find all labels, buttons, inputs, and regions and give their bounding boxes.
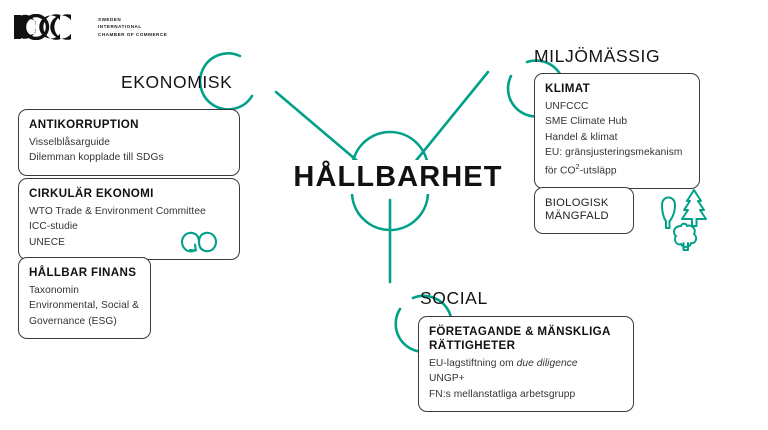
broadleaf-tree-icon bbox=[674, 224, 696, 250]
card-antikorruption: ANTIKORRUPTION Visselblåsarguide Dilemma… bbox=[18, 109, 240, 176]
card-item-list: UNFCCC SME Climate Hub Handel & klimat E… bbox=[545, 99, 689, 179]
due-diligence-italic: due diligence bbox=[517, 358, 578, 369]
list-item: Environmental, Social & Governance (ESG) bbox=[29, 298, 140, 329]
list-item: SME Climate Hub bbox=[545, 114, 689, 130]
list-item: Dilemman kopplade till SDGs bbox=[29, 150, 229, 166]
logo-line-chamber: Chamber of Commerce bbox=[98, 31, 167, 38]
list-item: Visselblåsarguide bbox=[29, 135, 229, 151]
card-title: HÅLLBAR FINANS bbox=[29, 266, 140, 280]
spoke-miljomassig bbox=[410, 72, 488, 168]
list-item-co2: EU: gränsjusteringsmekanism för CO2-utsl… bbox=[545, 145, 689, 178]
icc-logo-mark bbox=[14, 14, 92, 40]
logo-line-international: International bbox=[98, 23, 167, 30]
list-item: UNGP+ bbox=[429, 371, 623, 387]
fir-tree-icon bbox=[682, 190, 706, 226]
node-label-ekonomisk: EKONOMISK bbox=[121, 72, 232, 93]
card-hallbar-finans: HÅLLBAR FINANS Taxonomin Environmental, … bbox=[18, 257, 151, 339]
list-item: UNFCCC bbox=[545, 99, 689, 115]
list-item: WTO Trade & Environment Committee bbox=[29, 204, 229, 220]
infinity-loop-icon bbox=[176, 226, 222, 258]
card-item-list: EU-lagstiftning om due diligence UNGP+ F… bbox=[429, 356, 623, 403]
center-title-hallbarhet: HÅLLBARHET bbox=[288, 160, 508, 194]
poplar-tree-icon bbox=[662, 198, 675, 229]
due-diligence-prefix: EU-lagstiftning om bbox=[429, 358, 517, 369]
card-klimat: KLIMAT UNFCCC SME Climate Hub Handel & k… bbox=[534, 73, 700, 189]
trees-icon bbox=[652, 188, 714, 252]
list-item: Handel & klimat bbox=[545, 130, 689, 146]
list-item: Taxonomin bbox=[29, 283, 140, 299]
list-item-due-diligence: EU-lagstiftning om due diligence bbox=[429, 356, 623, 372]
node-label-social: SOCIAL bbox=[420, 288, 488, 309]
card-item-list: Visselblåsarguide Dilemman kopplade till… bbox=[29, 135, 229, 166]
card-title: CIRKULÄR EKONOMI bbox=[29, 187, 229, 201]
card-item-list: Taxonomin Environmental, Social & Govern… bbox=[29, 283, 140, 330]
logo-line-sweden: Sweden bbox=[98, 16, 167, 23]
card-title: FÖRETAGANDE & MÄNSKLIGA RÄTTIGHETER bbox=[429, 325, 623, 353]
card-title: BIOLOGISK MÄNGFALD bbox=[545, 197, 623, 224]
card-foretagande-manskliga-rattigheter: FÖRETAGANDE & MÄNSKLIGA RÄTTIGHETER EU-l… bbox=[418, 316, 634, 412]
node-label-miljomassig: MILJÖMÄSSIG bbox=[534, 46, 660, 67]
co2-text-suffix: -utsläpp bbox=[580, 165, 617, 176]
infographic-canvas: Sweden International Chamber of Commerce… bbox=[0, 0, 768, 430]
card-title: KLIMAT bbox=[545, 82, 689, 96]
list-item: FN:s mellanstatliga arbetsgrupp bbox=[429, 387, 623, 403]
card-title: ANTIKORRUPTION bbox=[29, 118, 229, 132]
card-biologisk-mangfald: BIOLOGISK MÄNGFALD bbox=[534, 187, 634, 234]
icc-logo: Sweden International Chamber of Commerce bbox=[14, 14, 167, 40]
